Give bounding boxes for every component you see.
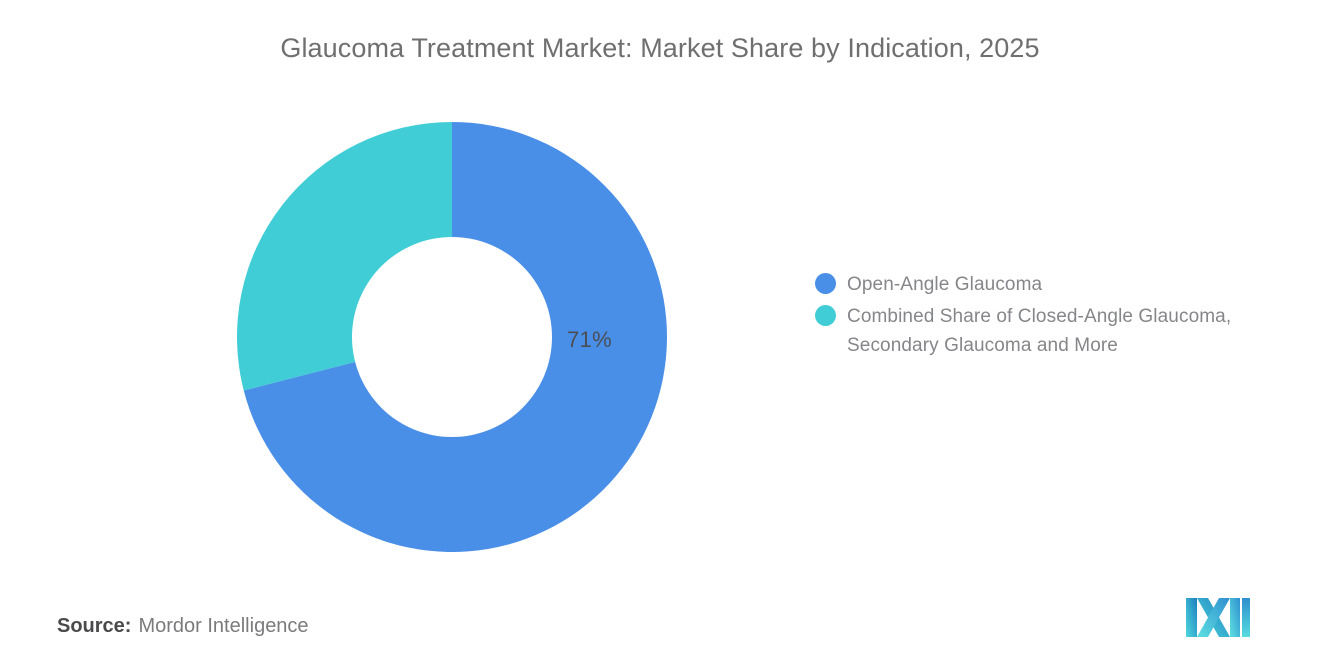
page-title: Glaucoma Treatment Market: Market Share … — [0, 30, 1320, 66]
legend-item-label: Combined Share of Closed-Angle Glaucoma,… — [847, 302, 1310, 360]
chart-canvas: Glaucoma Treatment Market: Market Share … — [0, 0, 1320, 665]
source-value: Mordor Intelligence — [138, 615, 308, 637]
mordor-intelligence-logo-icon — [1184, 597, 1252, 638]
chart-legend: Open-Angle Glaucoma Combined Share of Cl… — [815, 270, 1310, 363]
source-label: Source: — [57, 615, 131, 637]
legend-item-combined-share[interactable]: Combined Share of Closed-Angle Glaucoma,… — [815, 302, 1310, 360]
legend-swatch-icon — [815, 305, 836, 326]
legend-item-open-angle-glaucoma[interactable]: Open-Angle Glaucoma — [815, 270, 1310, 299]
logo-svg — [1184, 597, 1252, 638]
donut-hole — [352, 237, 552, 437]
legend-swatch-icon — [815, 273, 836, 294]
donut-chart-svg — [237, 122, 667, 552]
donut-chart: 71% — [237, 122, 667, 552]
legend-item-label: Open-Angle Glaucoma — [847, 270, 1042, 299]
source-note: Source:Mordor Intelligence — [57, 611, 309, 641]
